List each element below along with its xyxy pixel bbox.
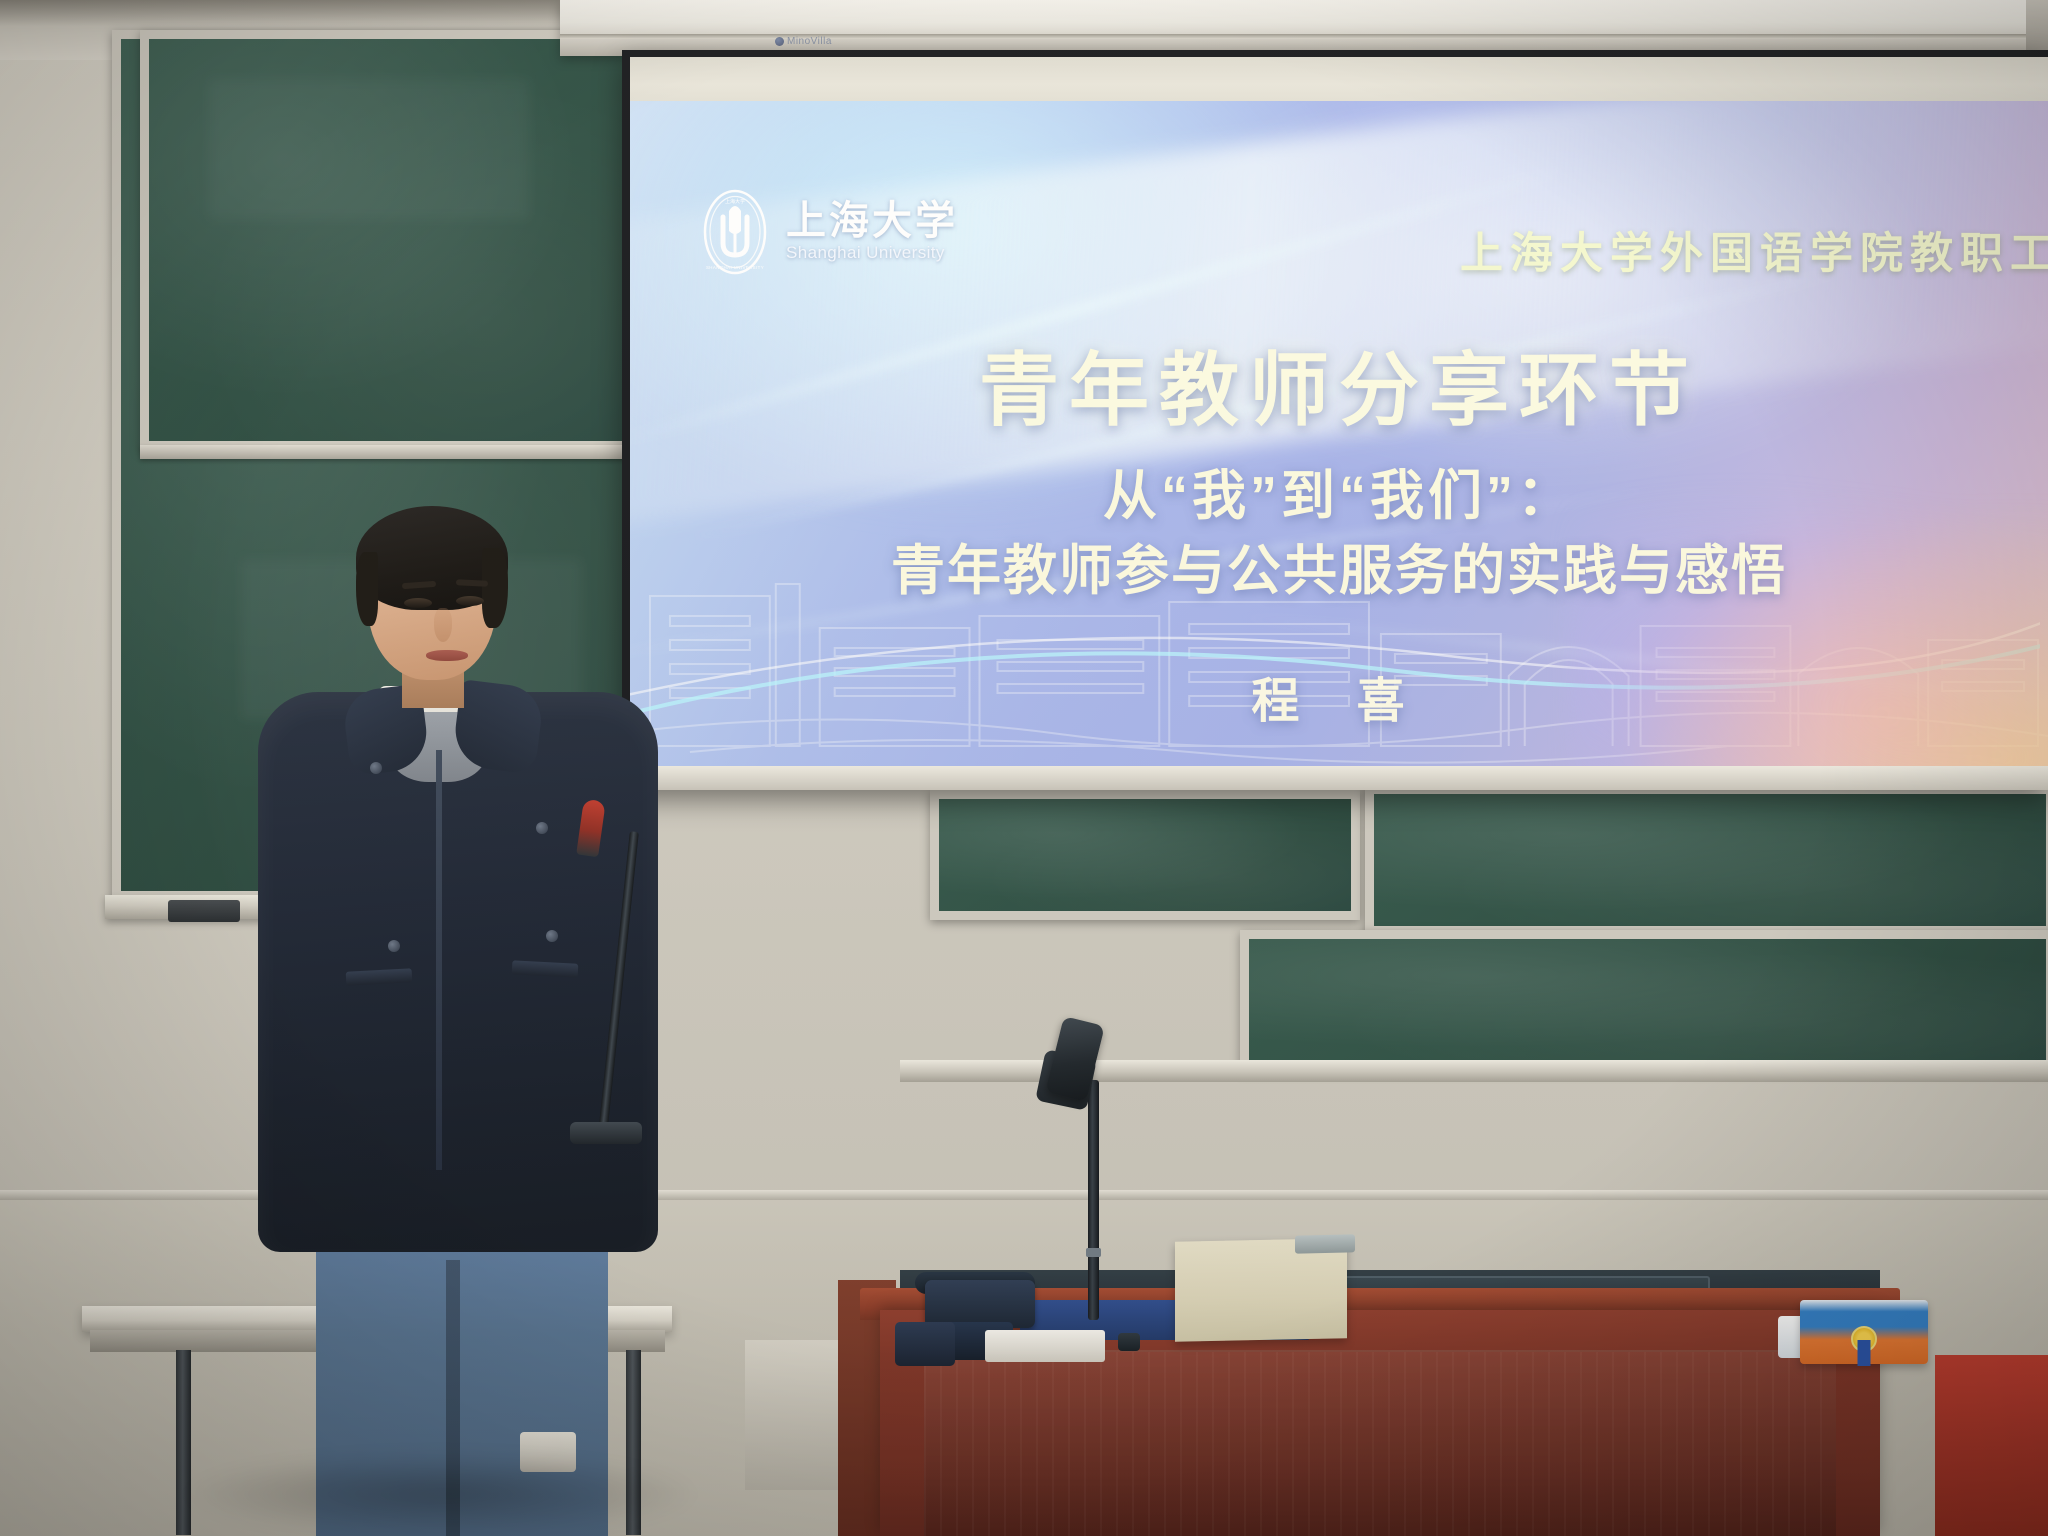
- speaker-person: [250, 500, 670, 1536]
- floor-shadow: [180, 1452, 700, 1536]
- slide-subtitle-line2: 青年教师参与公共服务的实践与感悟: [630, 526, 2048, 605]
- jacket-button: [546, 930, 558, 942]
- projection-screen[interactable]: 上海大学 SHANGHAI UNIVERSITY 上海大学 Shanghai U…: [622, 50, 2048, 790]
- microphone-base: [570, 1122, 642, 1144]
- shanghai-university-logo: 上海大学 SHANGHAI UNIVERSITY 上海大学 Shanghai U…: [698, 187, 958, 277]
- podium-front-panel: [924, 1350, 1836, 1536]
- university-name-en: Shanghai University: [786, 243, 958, 263]
- jacket-button: [536, 822, 548, 834]
- chalk-smudge: [209, 79, 529, 219]
- blackboard-surface: [1249, 939, 2046, 1061]
- person-hair-side: [482, 548, 508, 628]
- red-cabinet: [1935, 1355, 2048, 1536]
- brand-label: MinoVilla: [787, 36, 832, 47]
- blackboard-right-top: [1365, 785, 2048, 935]
- slide-subtitle-line1: 从“我”到“我们”：: [630, 451, 2048, 530]
- projection-screen-housing: MinoVilla: [560, 0, 2048, 56]
- remote-control[interactable]: [895, 1322, 955, 1366]
- person-nose: [434, 608, 452, 642]
- slide-presenter-name: 程 喜: [630, 661, 2048, 731]
- blackboard-surface: [1374, 794, 2046, 926]
- svg-text:SHANGHAI UNIVERSITY: SHANGHAI UNIVERSITY: [706, 265, 764, 270]
- university-seal-icon: 上海大学 SHANGHAI UNIVERSITY: [698, 187, 772, 277]
- presentation-slide: 上海大学 SHANGHAI UNIVERSITY 上海大学 Shanghai U…: [630, 101, 2048, 766]
- svg-text:上海大学: 上海大学: [725, 198, 745, 205]
- tripod-pole: [1088, 1080, 1099, 1320]
- person-eye: [404, 598, 432, 608]
- person-eye: [456, 596, 484, 606]
- blackboard-eraser[interactable]: [168, 900, 240, 922]
- telephone[interactable]: [925, 1280, 1035, 1328]
- wood-grain-texture: [924, 1352, 1836, 1536]
- folder-clip: [1295, 1234, 1355, 1253]
- blackboard-upper-panel: [140, 30, 640, 450]
- blackboard-surface: [939, 799, 1351, 911]
- person-mouth: [426, 650, 468, 661]
- projection-screen-surface: 上海大学 SHANGHAI UNIVERSITY 上海大学 Shanghai U…: [630, 57, 2048, 766]
- brand-dot-icon: [775, 37, 784, 46]
- tripod-clamp[interactable]: [1086, 1248, 1101, 1257]
- blackboard-right-lower: [1240, 930, 2048, 1070]
- screen-bottom-bar: [630, 766, 2048, 790]
- university-wordmark: 上海大学 Shanghai University: [786, 201, 958, 263]
- jacket-button: [388, 940, 400, 952]
- blackboard-divider-rail: [140, 445, 640, 459]
- tissue-box-ribbon: [1858, 1340, 1871, 1366]
- person-hair-side: [356, 552, 378, 626]
- jacket-button: [370, 762, 382, 774]
- housing-end-cap: [2026, 0, 2048, 56]
- tripod-adjust-knob[interactable]: [1118, 1333, 1140, 1351]
- screen-blank-top-margin: [630, 57, 2048, 103]
- blackboard-right-upper: [930, 790, 1360, 920]
- slide-title: 青年教师分享环节: [630, 326, 2048, 442]
- projector-brand-logo: MinoVilla: [775, 36, 832, 47]
- university-name-cn: 上海大学: [786, 201, 958, 241]
- white-notepad[interactable]: [985, 1330, 1105, 1362]
- tissue-box[interactable]: [1800, 1300, 1928, 1364]
- slide-header-text: 上海大学外国语学院教职工大: [1460, 219, 2048, 281]
- jacket-zipper: [436, 750, 442, 1170]
- classroom-scene: MinoVilla: [0, 0, 2048, 1536]
- document-folder[interactable]: [1175, 1238, 1347, 1342]
